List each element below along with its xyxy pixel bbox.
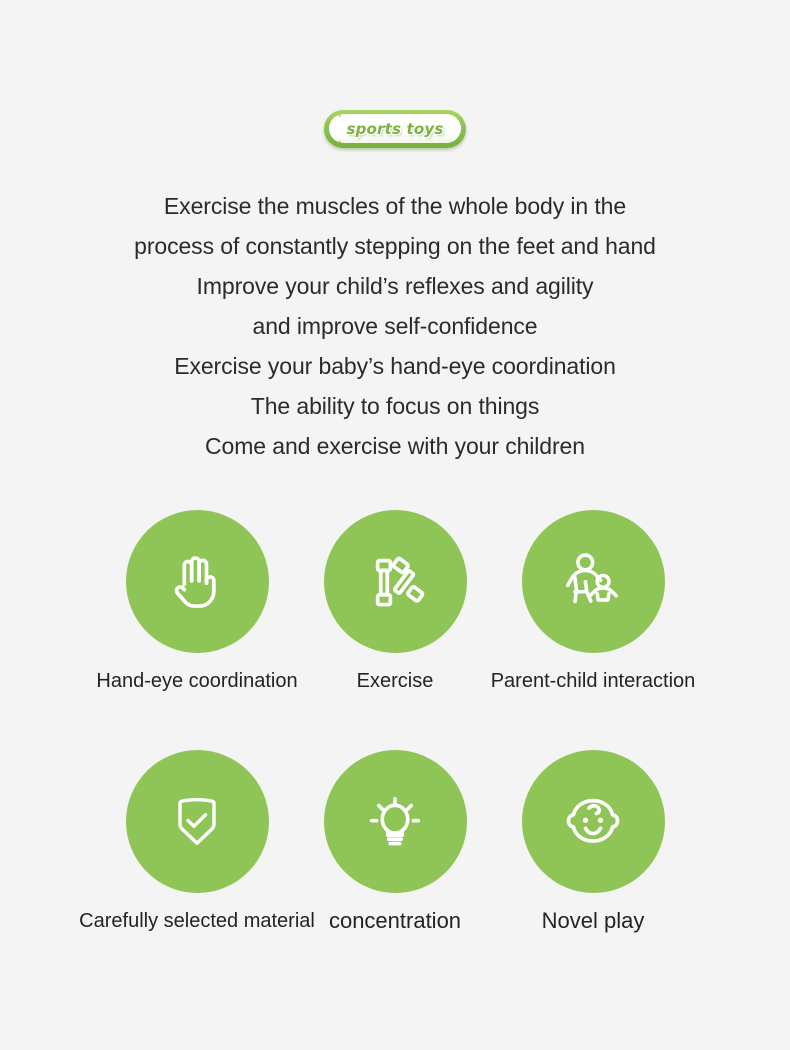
parent-child-icon bbox=[555, 544, 631, 620]
description-line: Improve your child’s reflexes and agilit… bbox=[0, 266, 790, 306]
feature-label: Parent-child interaction bbox=[491, 669, 696, 693]
feature-row-1: Hand-eye coordination Exercise bbox=[0, 510, 790, 693]
feature-label: Novel play bbox=[542, 909, 645, 933]
feature-label: concentration bbox=[329, 909, 461, 933]
feature-icon-circle bbox=[522, 510, 665, 653]
baby-face-icon bbox=[556, 785, 630, 859]
feature-icon-circle bbox=[126, 750, 269, 893]
feature-item-concentration: concentration bbox=[296, 750, 494, 933]
lightbulb-icon bbox=[359, 786, 431, 858]
description-line: process of constantly stepping on the fe… bbox=[0, 226, 790, 266]
description-line: Exercise your baby’s hand-eye coordinati… bbox=[0, 346, 790, 386]
feature-label: Exercise bbox=[357, 669, 434, 693]
badge-label: sports toys bbox=[346, 120, 443, 138]
hand-icon bbox=[160, 545, 234, 619]
description-line: The ability to focus on things bbox=[0, 386, 790, 426]
description-line: Exercise the muscles of the whole body i… bbox=[0, 186, 790, 226]
feature-icon-circle bbox=[522, 750, 665, 893]
dumbbell-icon bbox=[358, 545, 432, 619]
feature-item-exercise: Exercise bbox=[296, 510, 494, 693]
feature-icon-circle bbox=[324, 510, 467, 653]
feature-icon-circle bbox=[324, 750, 467, 893]
feature-item-carefully-selected-material: Carefully selected material bbox=[98, 750, 296, 933]
feature-item-hand-eye-coordination: Hand-eye coordination bbox=[98, 510, 296, 693]
sports-toys-badge: sports toys bbox=[324, 110, 466, 148]
feature-icon-circle bbox=[126, 510, 269, 653]
badge-gold-accent-icon bbox=[329, 114, 346, 143]
feature-row-2: Carefully selected material co bbox=[0, 750, 790, 933]
feature-label: Carefully selected material bbox=[79, 909, 315, 933]
description-block: Exercise the muscles of the whole body i… bbox=[0, 186, 790, 466]
feature-item-novel-play: Novel play bbox=[494, 750, 692, 933]
shield-check-icon bbox=[163, 788, 231, 856]
feature-label: Hand-eye coordination bbox=[96, 669, 297, 693]
badge-container: sports toys bbox=[0, 110, 790, 148]
description-line: Come and exercise with your children bbox=[0, 426, 790, 466]
product-feature-page: sports toys Exercise the muscles of the … bbox=[0, 0, 790, 1050]
feature-item-parent-child-interaction: Parent-child interaction bbox=[494, 510, 692, 693]
description-line: and improve self-confidence bbox=[0, 306, 790, 346]
